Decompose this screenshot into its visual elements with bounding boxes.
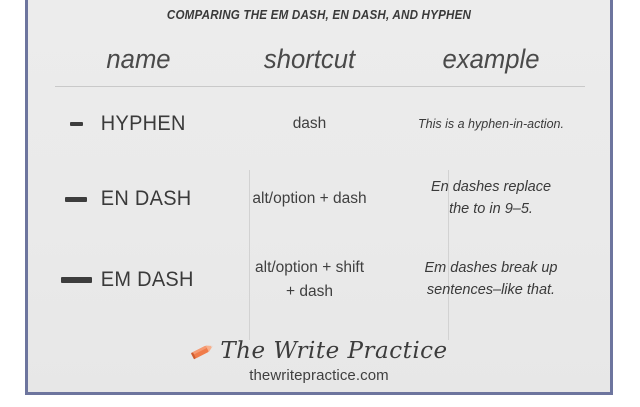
table-row: EM DASH alt/option + shift + dash Em das… [55, 237, 585, 323]
infographic-content: COMPARING THE EM DASH, EN DASH, AND HYPH… [28, 0, 610, 395]
row-name-cell: HYPHEN [55, 112, 222, 136]
brand-name: The Write Practice [220, 338, 447, 364]
row-example-line2: the to in 9–5. [397, 199, 585, 221]
en-dash-glyph-wrap [55, 197, 97, 202]
row-shortcut-cell: dash [222, 112, 397, 136]
table-header-row: name shortcut example [55, 36, 585, 82]
em-dash-glyph [61, 277, 92, 283]
row-example-line1: This is a hyphen-in-action. [397, 115, 585, 134]
row-example-line1: Em dashes break up [397, 258, 585, 280]
row-name-label: EM DASH [97, 268, 194, 292]
comparison-table: name shortcut example HYPHEN [55, 36, 585, 323]
row-shortcut-cell: alt/option + shift + dash [222, 256, 397, 304]
header-cell-shortcut-wrap: shortcut [222, 44, 397, 75]
row-example-cell: This is a hyphen-in-action. [397, 115, 585, 134]
row-name-cell: EN DASH [55, 187, 222, 211]
hyphen-glyph-wrap [55, 122, 97, 126]
row-shortcut-line1: dash [222, 112, 397, 136]
row-example-line1: En dashes replace [397, 177, 585, 199]
row-example-line2: sentences–like that. [397, 280, 585, 302]
hyphen-glyph [70, 122, 83, 126]
row-example-cell: Em dashes break up sentences–like that. [397, 258, 585, 302]
table-row: HYPHEN dash This is a hyphen-in-action. [55, 87, 585, 161]
header-cell-example: example [402, 44, 581, 75]
brand-url: thewritepractice.com [28, 367, 610, 384]
row-example-cell: En dashes replace the to in 9–5. [397, 177, 585, 221]
row-shortcut-line1: alt/option + shift [222, 256, 397, 280]
infographic-canvas: COMPARING THE EM DASH, EN DASH, AND HYPH… [0, 0, 640, 407]
header-cell-name: name [59, 44, 218, 75]
table-row: EN DASH alt/option + dash En dashes repl… [55, 161, 585, 237]
em-dash-glyph-wrap [55, 277, 97, 283]
en-dash-glyph [65, 197, 87, 202]
header-cell-shortcut: shortcut [226, 44, 392, 75]
row-shortcut-line2: + dash [222, 280, 397, 304]
row-name-label: HYPHEN [97, 112, 186, 136]
pencil-icon [190, 342, 216, 360]
row-name-cell: EM DASH [55, 268, 222, 292]
header-cell-name-wrap: name [55, 44, 222, 75]
page-title: COMPARING THE EM DASH, EN DASH, AND HYPH… [48, 8, 589, 22]
header-cell-example-wrap: example [397, 44, 585, 75]
brand-line: The Write Practice [28, 336, 610, 366]
footer-branding: The Write Practice thewritepractice.com [28, 336, 610, 384]
row-shortcut-line1: alt/option + dash [222, 187, 397, 211]
row-name-label: EN DASH [97, 187, 191, 211]
row-shortcut-cell: alt/option + dash [222, 187, 397, 211]
